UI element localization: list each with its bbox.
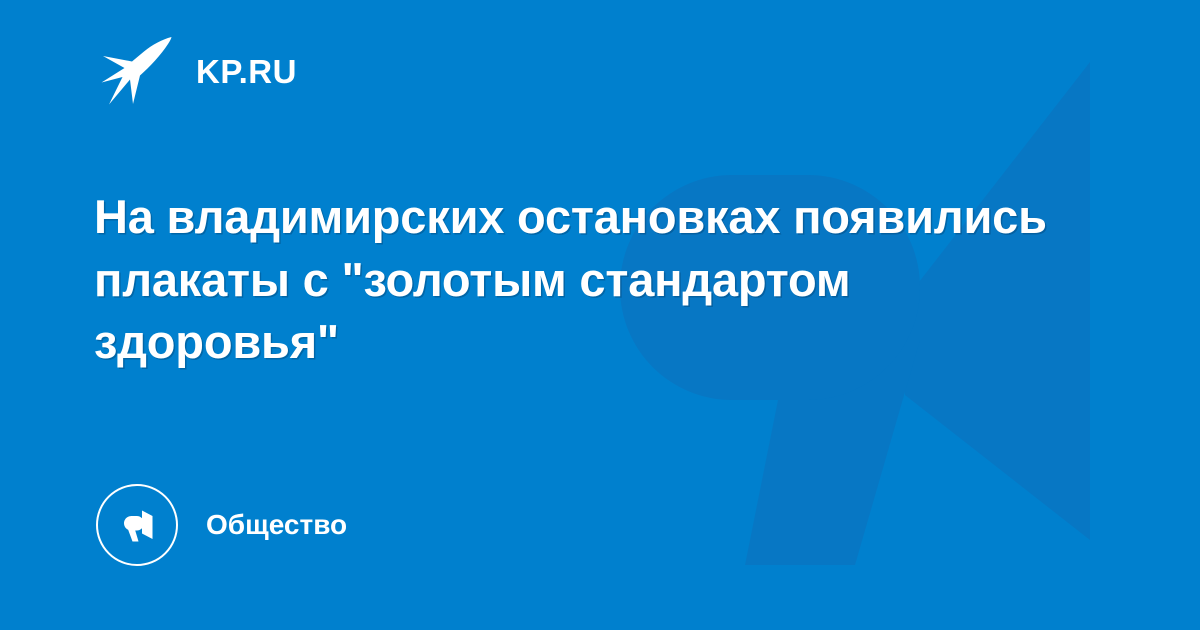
brand-name[interactable]: KP.RU bbox=[196, 55, 297, 88]
rubric[interactable]: Общество bbox=[96, 484, 347, 566]
rubric-label[interactable]: Общество bbox=[206, 511, 347, 539]
social-share-card: KP.RU На владимирских остановках появили… bbox=[0, 0, 1200, 630]
site-header: KP.RU bbox=[100, 32, 297, 110]
swallow-bird-icon bbox=[100, 35, 174, 107]
rubric-badge bbox=[96, 484, 178, 566]
page-title: На владимирских остановках появились пла… bbox=[94, 186, 1094, 374]
megaphone-icon bbox=[115, 503, 159, 547]
